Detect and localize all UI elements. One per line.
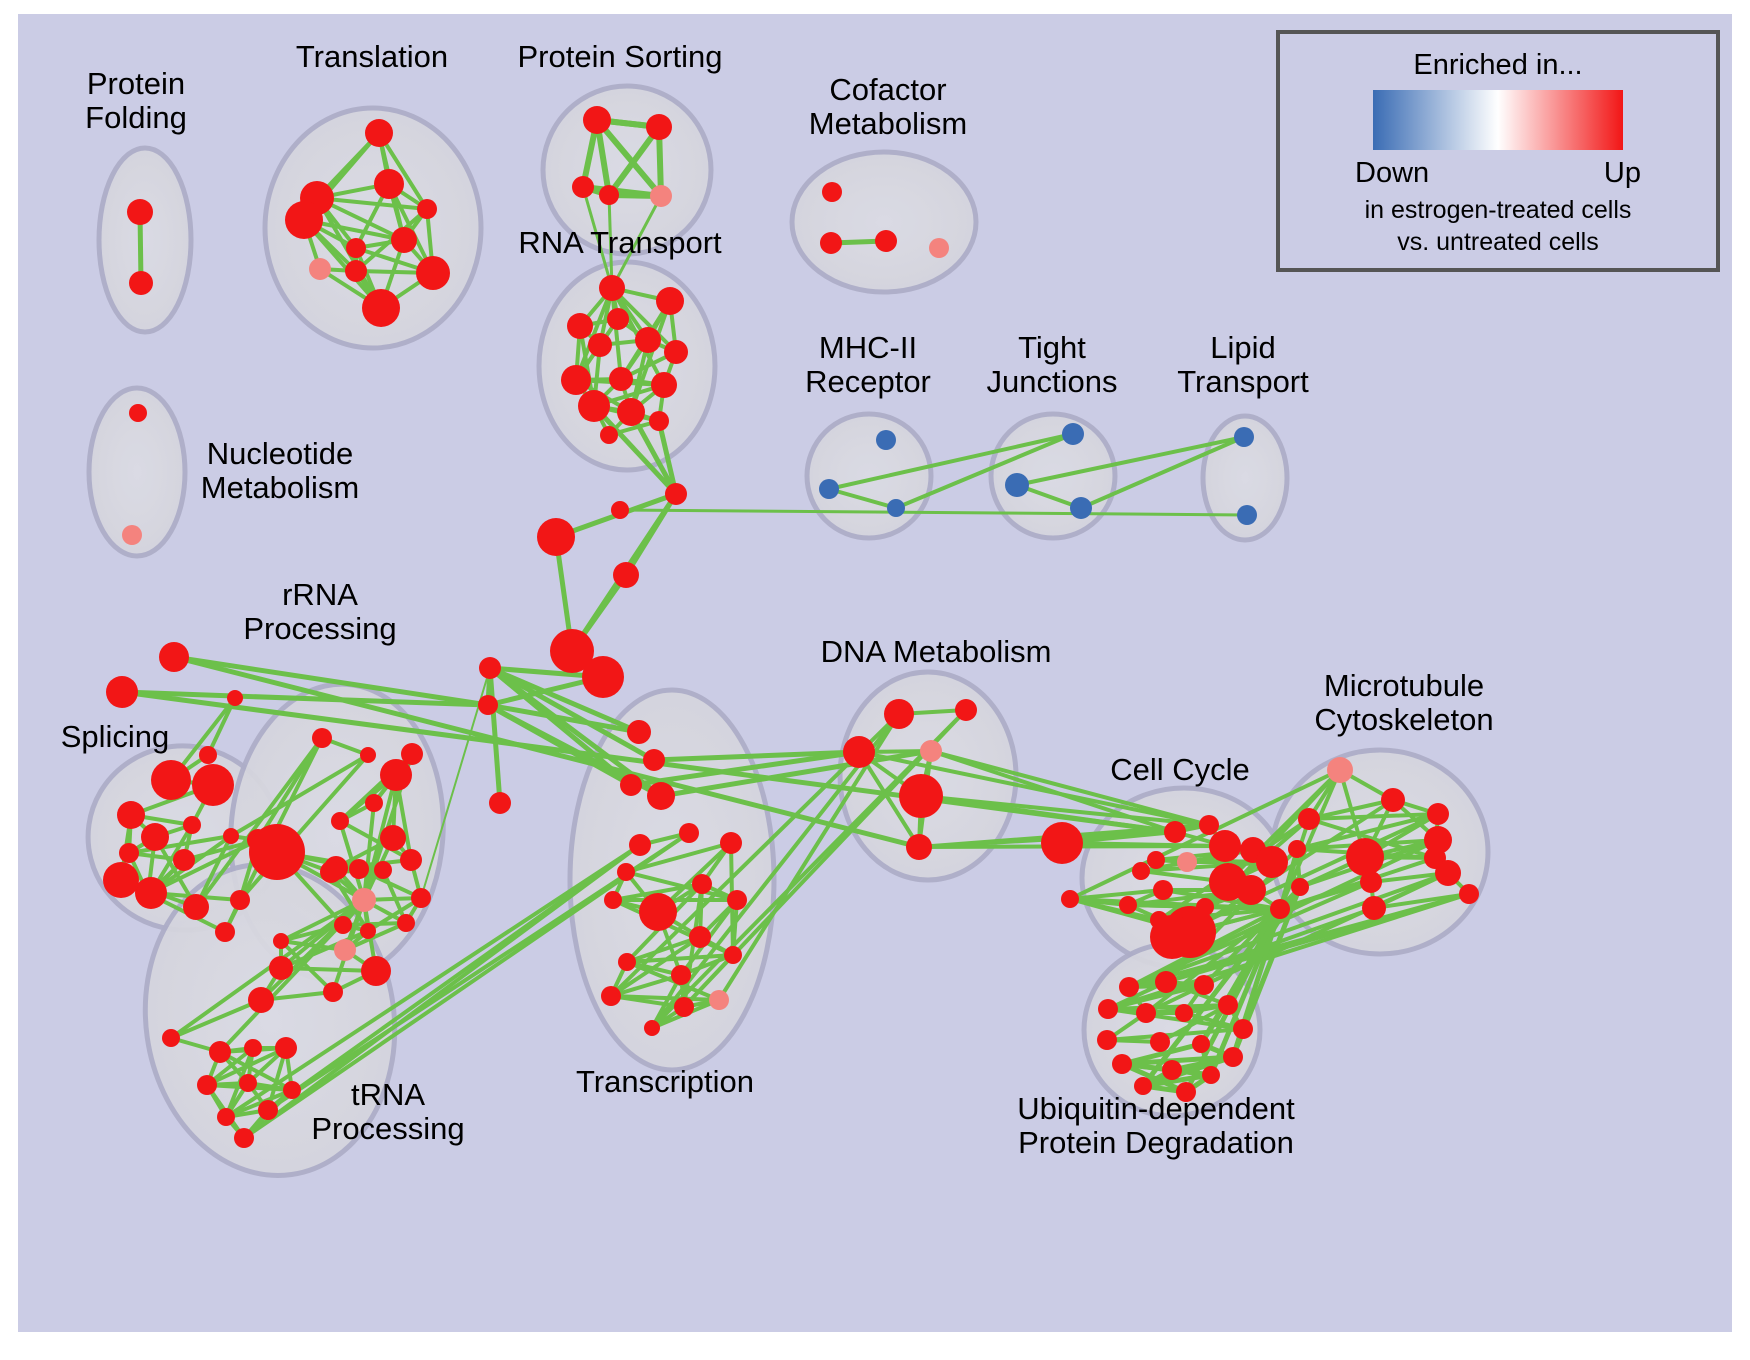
network-node[interactable] — [671, 965, 691, 985]
network-node[interactable] — [601, 986, 621, 1006]
network-node[interactable] — [230, 890, 250, 910]
network-node[interactable] — [620, 774, 642, 796]
network-node[interactable] — [117, 801, 145, 829]
network-node[interactable] — [400, 849, 422, 871]
legend: Enriched in...DownUpin estrogen-treated … — [1278, 32, 1718, 270]
network-node[interactable] — [819, 479, 839, 499]
cluster-label-rna-transport: RNA Transport — [518, 225, 722, 260]
network-node[interactable] — [331, 812, 349, 830]
network-node[interactable] — [1136, 1003, 1156, 1023]
network-node[interactable] — [665, 483, 687, 505]
network-node[interactable] — [1233, 1019, 1253, 1039]
network-node[interactable] — [199, 746, 217, 764]
network-node[interactable] — [1155, 971, 1177, 993]
network-node[interactable] — [887, 499, 905, 517]
network-node[interactable] — [173, 849, 195, 871]
network-node[interactable] — [1147, 851, 1165, 869]
network-node[interactable] — [1270, 899, 1290, 919]
network-node[interactable] — [656, 287, 684, 315]
network-node[interactable] — [349, 859, 369, 879]
network-node[interactable] — [411, 888, 431, 908]
network-node[interactable] — [651, 372, 677, 398]
network-node[interactable] — [183, 816, 201, 834]
cluster-cofactor-metabolism — [792, 152, 976, 292]
cluster-label-translation: Translation — [296, 39, 448, 74]
network-node[interactable] — [1459, 884, 1479, 904]
network-node[interactable] — [183, 894, 209, 920]
network-node[interactable] — [360, 747, 376, 763]
network-node[interactable] — [617, 863, 635, 881]
network-node[interactable] — [1381, 788, 1405, 812]
network-node[interactable] — [1236, 875, 1266, 905]
network-node[interactable] — [129, 404, 147, 422]
cluster-label-mhc-ii-receptor: MHC-IIReceptor — [805, 330, 931, 399]
network-node[interactable] — [1298, 808, 1320, 830]
network-node[interactable] — [1234, 427, 1254, 447]
figure-canvas: ProteinFoldingTranslationProtein Sorting… — [0, 0, 1750, 1360]
network-node[interactable] — [607, 308, 629, 330]
network-node[interactable] — [209, 1041, 231, 1063]
network-node[interactable] — [561, 365, 591, 395]
network-node[interactable] — [578, 390, 610, 422]
network-node[interactable] — [223, 828, 239, 844]
network-node[interactable] — [352, 888, 376, 912]
network-node[interactable] — [875, 230, 897, 252]
network-node[interactable] — [613, 562, 639, 588]
network-node[interactable] — [899, 774, 943, 818]
network-node[interactable] — [275, 1037, 297, 1059]
network-node[interactable] — [720, 832, 742, 854]
network-node[interactable] — [627, 720, 651, 744]
network-node[interactable] — [929, 238, 949, 258]
legend-subtitle-line2: vs. untreated cells — [1397, 228, 1599, 256]
network-node[interactable] — [1291, 878, 1309, 896]
network-node[interactable] — [664, 340, 688, 364]
network-node[interactable] — [588, 333, 612, 357]
network-node[interactable] — [374, 169, 404, 199]
network-node[interactable] — [611, 501, 629, 519]
network-node[interactable] — [727, 890, 747, 910]
network-node[interactable] — [643, 749, 665, 771]
network-node[interactable] — [567, 313, 593, 339]
network-node[interactable] — [119, 843, 139, 863]
network-node[interactable] — [1061, 890, 1079, 908]
network-node[interactable] — [599, 185, 619, 205]
cluster-label-protein-sorting: Protein Sorting — [517, 39, 722, 74]
network-node[interactable] — [537, 518, 575, 556]
network-node[interactable] — [646, 114, 672, 140]
network-node[interactable] — [192, 764, 234, 806]
network-node[interactable] — [674, 997, 694, 1017]
cluster-label-protein-folding: ProteinFolding — [85, 66, 187, 135]
network-node[interactable] — [599, 275, 625, 301]
network-node[interactable] — [1119, 896, 1137, 914]
network-node[interactable] — [583, 106, 611, 134]
network-node[interactable] — [159, 642, 189, 672]
network-node[interactable] — [365, 119, 393, 147]
network-node[interactable] — [479, 657, 501, 679]
network-node[interactable] — [312, 728, 332, 748]
network-node[interactable] — [1435, 860, 1461, 886]
network-node[interactable] — [273, 933, 289, 949]
cluster-label-dna-metabolism: DNA Metabolism — [821, 634, 1052, 669]
network-node[interactable] — [635, 327, 661, 353]
network-node[interactable] — [217, 1108, 235, 1126]
network-node[interactable] — [417, 199, 437, 219]
network-node[interactable] — [843, 736, 875, 768]
network-node[interactable] — [323, 982, 343, 1002]
network-node[interactable] — [955, 699, 977, 721]
network-node[interactable] — [1132, 862, 1150, 880]
network-node[interactable] — [345, 260, 367, 282]
cluster-label-nucleotide-metabolism: NucleotideMetabolism — [201, 436, 360, 505]
network-node[interactable] — [162, 1029, 180, 1047]
network-node[interactable] — [1362, 896, 1386, 920]
network-node[interactable] — [197, 1075, 217, 1095]
network-node[interactable] — [1097, 1030, 1117, 1050]
network-node[interactable] — [283, 1081, 301, 1099]
network-node[interactable] — [647, 782, 675, 810]
network-node[interactable] — [360, 923, 376, 939]
network-node[interactable] — [151, 760, 191, 800]
network-node[interactable] — [320, 861, 342, 883]
network-node[interactable] — [1237, 505, 1257, 525]
network-node[interactable] — [1256, 846, 1288, 878]
network-node[interactable] — [604, 891, 622, 909]
network-node[interactable] — [709, 990, 729, 1010]
network-node[interactable] — [141, 823, 169, 851]
network-node[interactable] — [617, 398, 645, 426]
network-node[interactable] — [1223, 1047, 1243, 1067]
network-node[interactable] — [258, 1100, 278, 1120]
cluster-protein-folding — [99, 148, 191, 332]
enrichment-network-svg: ProteinFoldingTranslationProtein Sorting… — [0, 0, 1750, 1360]
network-node[interactable] — [391, 227, 417, 253]
network-node[interactable] — [906, 834, 932, 860]
network-node[interactable] — [249, 824, 305, 880]
network-node[interactable] — [129, 271, 153, 295]
legend-color-scale-bar — [1373, 90, 1623, 150]
network-node[interactable] — [1041, 822, 1083, 864]
network-node[interactable] — [1202, 1066, 1220, 1084]
network-node[interactable] — [334, 939, 356, 961]
network-node[interactable] — [234, 1128, 254, 1148]
network-node[interactable] — [285, 201, 323, 239]
network-node[interactable] — [361, 956, 391, 986]
network-node[interactable] — [365, 794, 383, 812]
network-node[interactable] — [609, 367, 633, 391]
network-node[interactable] — [650, 185, 672, 207]
network-node[interactable] — [1162, 1060, 1182, 1080]
network-node[interactable] — [600, 426, 618, 444]
network-node[interactable] — [724, 946, 742, 964]
network-node[interactable] — [1112, 1054, 1132, 1074]
network-node[interactable] — [1175, 1004, 1193, 1022]
network-node[interactable] — [1288, 840, 1306, 858]
network-node[interactable] — [227, 690, 243, 706]
network-node[interactable] — [920, 740, 942, 762]
network-node[interactable] — [572, 176, 594, 198]
network-node[interactable] — [884, 699, 914, 729]
network-node[interactable] — [644, 1020, 660, 1036]
network-node[interactable] — [416, 256, 450, 290]
network-node[interactable] — [346, 238, 366, 258]
network-node[interactable] — [649, 411, 669, 431]
network-node[interactable] — [1427, 803, 1449, 825]
network-node[interactable] — [679, 823, 699, 843]
network-node[interactable] — [248, 987, 274, 1013]
network-node[interactable] — [103, 862, 139, 898]
cluster-label-ubiquitin-protein-degradation: Ubiquitin-dependentProtein Degradation — [1017, 1091, 1295, 1160]
network-node[interactable] — [1327, 757, 1353, 783]
network-node[interactable] — [1164, 821, 1186, 843]
network-node[interactable] — [309, 258, 331, 280]
cluster-label-microtubule-cytoskeleton: MicrotubuleCytoskeleton — [1314, 668, 1493, 737]
network-node[interactable] — [820, 232, 842, 254]
network-node[interactable] — [1119, 977, 1139, 997]
legend-subtitle-line1: in estrogen-treated cells — [1365, 196, 1632, 224]
network-node[interactable] — [1199, 815, 1219, 835]
network-node[interactable] — [380, 825, 406, 851]
cluster-label-cofactor-metabolism: CofactorMetabolism — [809, 72, 968, 141]
cluster-label-splicing: Splicing — [61, 719, 170, 754]
network-node[interactable] — [362, 289, 400, 327]
network-node[interactable] — [1005, 473, 1029, 497]
network-node[interactable] — [1209, 830, 1241, 862]
network-node[interactable] — [135, 877, 167, 909]
network-node[interactable] — [334, 916, 352, 934]
network-node[interactable] — [1098, 999, 1118, 1019]
network-node[interactable] — [582, 656, 624, 698]
network-node[interactable] — [106, 676, 138, 708]
network-node[interactable] — [1346, 838, 1384, 876]
network-node[interactable] — [689, 926, 711, 948]
cluster-label-cell-cycle: Cell Cycle — [1110, 752, 1250, 787]
network-node[interactable] — [1150, 1032, 1170, 1052]
network-node[interactable] — [1192, 1035, 1210, 1053]
cluster-mhc-ii-receptor — [807, 414, 931, 538]
network-node[interactable] — [876, 430, 896, 450]
network-node[interactable] — [1153, 880, 1173, 900]
network-node[interactable] — [1062, 423, 1084, 445]
legend-down-label: Down — [1355, 157, 1429, 189]
legend-title: Enriched in... — [1413, 49, 1582, 81]
network-node[interactable] — [1194, 975, 1214, 995]
network-node[interactable] — [1150, 915, 1194, 959]
network-node[interactable] — [239, 1074, 257, 1092]
network-node[interactable] — [244, 1039, 262, 1057]
network-node[interactable] — [629, 834, 651, 856]
network-node[interactable] — [1360, 871, 1382, 893]
network-node[interactable] — [1424, 826, 1452, 854]
legend-up-label: Up — [1604, 157, 1641, 189]
network-node[interactable] — [1177, 852, 1197, 872]
network-node[interactable] — [489, 792, 511, 814]
network-node[interactable] — [618, 953, 636, 971]
network-node[interactable] — [122, 525, 142, 545]
network-node[interactable] — [639, 893, 677, 931]
cluster-label-transcription: Transcription — [576, 1064, 754, 1099]
network-node[interactable] — [478, 695, 498, 715]
network-node[interactable] — [380, 759, 412, 791]
network-node[interactable] — [374, 861, 392, 879]
network-node[interactable] — [215, 922, 235, 942]
network-node[interactable] — [397, 914, 415, 932]
network-node[interactable] — [269, 956, 293, 980]
network-node[interactable] — [1218, 995, 1238, 1015]
network-node[interactable] — [692, 874, 712, 894]
network-node[interactable] — [1070, 497, 1092, 519]
network-node[interactable] — [127, 199, 153, 225]
network-node[interactable] — [822, 182, 842, 202]
